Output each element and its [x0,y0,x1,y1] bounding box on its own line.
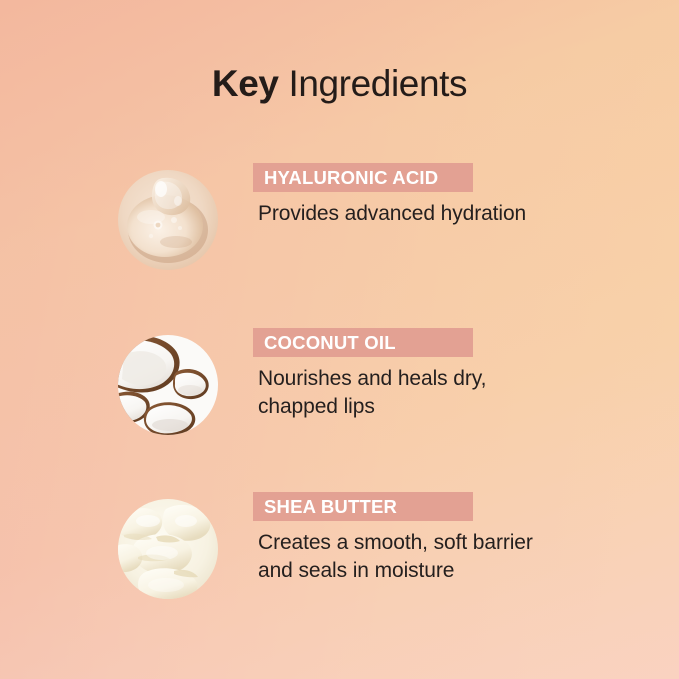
page-title: Key Ingredients [0,61,679,107]
ingredient-text-block: HYALURONIC ACID Provides advanced hydrat… [253,163,653,228]
hyaluronic-acid-image [118,170,218,270]
ingredient-row: HYALURONIC ACID Provides advanced hydrat… [0,163,679,283]
ingredient-row: SHEA BUTTER Creates a smooth, soft barri… [0,492,679,612]
ingredient-name-badge: SHEA BUTTER [253,492,473,521]
ingredient-description: Nourishes and heals dry, chapped lips [253,365,653,421]
ingredient-row: COCONUT OIL Nourishes and heals dry, cha… [0,328,679,448]
page-title-light: Ingredients [279,63,468,104]
ingredient-description: Provides advanced hydration [253,200,653,228]
shea-butter-image [118,499,218,599]
ingredient-description: Creates a smooth, soft barrier and seals… [253,529,653,585]
ingredient-name-badge: COCONUT OIL [253,328,473,357]
page-title-strong: Key [212,63,279,104]
ingredient-name-badge: HYALURONIC ACID [253,163,473,192]
coconut-oil-image [118,335,218,435]
ingredient-text-block: COCONUT OIL Nourishes and heals dry, cha… [253,328,653,421]
ingredient-text-block: SHEA BUTTER Creates a smooth, soft barri… [253,492,653,585]
key-ingredients-card: Key Ingredients [0,0,679,679]
